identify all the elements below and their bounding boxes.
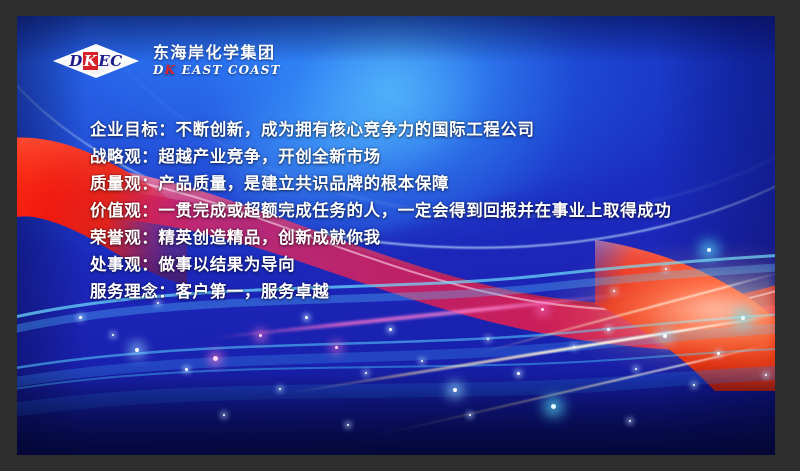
slogan-line: 荣誉观：精英创造精品，创新成就你我 — [90, 224, 750, 251]
slogan-line: 处事观：做事以结果为导向 — [90, 251, 750, 278]
dkec-diamond-icon: DKEC — [53, 44, 139, 78]
slogan-line: 质量观：产品质量，是建立共识品牌的根本保障 — [90, 170, 750, 197]
slogan-line: 价值观：一贯完成或超额完成任务的人，一定会得到回报并在事业上取得成功 — [90, 197, 750, 224]
monogram-d: D — [69, 52, 83, 70]
company-name-cn: 东海岸化学集团 — [153, 45, 281, 62]
bottom-dark-band — [17, 375, 775, 455]
monogram-k: K — [83, 52, 99, 70]
slogan-line: 企业目标：不断创新，成为拥有核心竞争力的国际工程公司 — [90, 116, 750, 143]
company-name-block: 东海岸化学集团 DK EAST COAST — [153, 45, 281, 76]
monogram-ec: EC — [98, 52, 122, 70]
company-name-en: DK EAST COAST — [153, 64, 281, 77]
company-en-d: D — [153, 63, 165, 77]
presentation-slide: DKEC 东海岸化学集团 DK EAST COAST 企业目标：不断创新，成为拥… — [17, 16, 775, 455]
diamond-monogram: DKEC — [53, 44, 139, 78]
company-logo: DKEC 东海岸化学集团 DK EAST COAST — [53, 44, 281, 78]
image-frame: DKEC 东海岸化学集团 DK EAST COAST 企业目标：不断创新，成为拥… — [0, 0, 800, 471]
slogan-line: 服务理念：客户第一，服务卓越 — [90, 278, 750, 305]
slogan-list: 企业目标：不断创新，成为拥有核心竞争力的国际工程公司 战略观：超越产业竞争，开创… — [90, 116, 750, 305]
company-en-k: K — [165, 63, 177, 77]
company-en-rest: EAST COAST — [182, 63, 281, 77]
slogan-line: 战略观：超越产业竞争，开创全新市场 — [90, 143, 750, 170]
